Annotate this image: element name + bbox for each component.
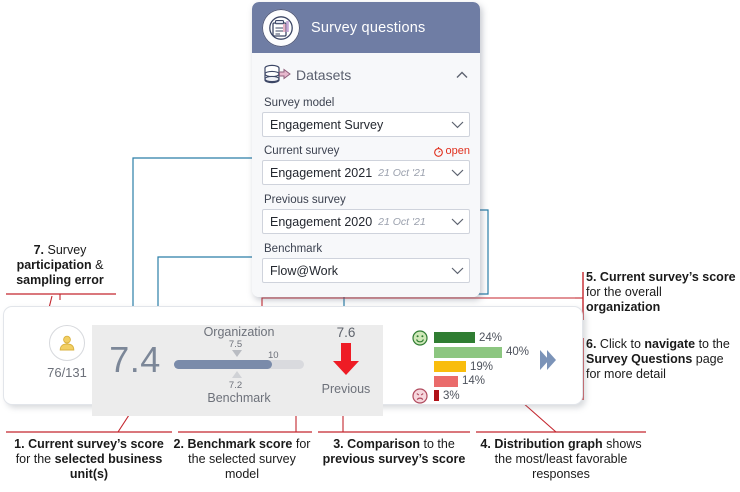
distribution-label-4: 14% (462, 375, 485, 387)
benchmark-slider[interactable]: Organization 7.5 10 7.2 Benchmark (174, 325, 304, 405)
callout-5-text: Current survey’s score for the overall o… (586, 270, 736, 314)
callout-3: 3. Comparison to the previous survey’s s… (314, 437, 474, 467)
benchmark-label: Benchmark (264, 243, 470, 255)
chevron-down-icon[interactable] (451, 120, 464, 129)
callout-2-text: Benchmark score for the selected survey … (184, 437, 310, 481)
chevron-down-icon[interactable] (451, 266, 464, 275)
wire-current-survey (133, 158, 252, 328)
survey-model-value: Engagement Survey (270, 118, 383, 132)
callout-7-text: Survey participation & sampling error (16, 243, 104, 287)
status-badge: open (433, 145, 470, 157)
survey-clipboard-icon (262, 9, 300, 47)
organization-marker-row: 10 (174, 350, 304, 360)
benchmark-select[interactable]: Flow@Work (262, 258, 470, 283)
benchmark-marker (232, 371, 242, 378)
callout-7-number: 7. (34, 243, 44, 257)
panel-body: Datasets Survey model Engagement Survey … (252, 53, 480, 297)
distribution-row: 3% (412, 389, 522, 402)
participation-block: 76/131 (30, 325, 104, 380)
callout-3-number: 3. (333, 437, 343, 451)
distribution-row: 40% (412, 346, 522, 359)
callout-4-text: Distribution graph shows the most/least … (491, 437, 642, 481)
organization-label: Organization (174, 325, 304, 339)
screenshot-root: Survey questions Datasets (0, 0, 740, 492)
previous-comparison-block: 7.6 Previous (309, 325, 383, 396)
previous-survey-select[interactable]: Engagement 2020 21 Oct '21 (262, 209, 470, 234)
callout-4: 4. Distribution graph shows the most/lea… (476, 437, 646, 483)
distribution-bar-3 (434, 361, 466, 372)
arrow-down-icon (331, 342, 361, 376)
callout-6-text: Click to navigate to the Survey Question… (586, 337, 730, 381)
callout-7: 7. Survey participation & sampling error (4, 243, 116, 289)
distribution-label-5: 3% (443, 390, 460, 402)
panel-header: Survey questions (252, 2, 480, 53)
distribution-label-3: 19% (470, 361, 493, 373)
open-badge-label: open (446, 145, 470, 157)
slider-fill (174, 360, 272, 369)
datasets-label: Datasets (296, 67, 454, 83)
callout-3-text: Comparison to the previous survey’s scor… (323, 437, 466, 466)
chevron-up-icon[interactable] (454, 67, 470, 83)
callout-1-text: Current survey’s score for the selected … (16, 437, 164, 481)
current-survey-date: 21 Oct '21 (378, 167, 426, 179)
callout-2: 2. Benchmark score for the selected surv… (172, 437, 312, 483)
distribution-bar-1 (434, 332, 475, 343)
smiley-sad-icon (412, 388, 428, 404)
smiley-happy-icon (412, 330, 428, 346)
participation-value: 76/131 (30, 365, 104, 380)
callout-5: 5. Current survey’s score for the overal… (586, 270, 738, 316)
current-score-value: 7.4 (100, 339, 170, 381)
callout-1: 1. Current survey’s score for the select… (6, 437, 172, 483)
benchmark-value: Flow@Work (270, 264, 338, 278)
previous-survey-value: Engagement 2020 (270, 215, 372, 229)
survey-model-select[interactable]: Engagement Survey (262, 112, 470, 137)
callout-4-number: 4. (480, 437, 490, 451)
previous-label: Previous (309, 382, 383, 396)
survey-model-label: Survey model (264, 97, 470, 109)
organization-marker (232, 350, 242, 357)
benchmark-slider-label: Benchmark (174, 391, 304, 405)
survey-questions-panel: Survey questions Datasets (252, 2, 480, 297)
callout-1-number: 1. (14, 437, 24, 451)
previous-survey-date: 21 Oct '21 (378, 216, 426, 228)
current-survey-label-row: Current survey open (264, 145, 470, 157)
database-icon (262, 63, 292, 87)
distribution-row: 24% (412, 331, 522, 344)
kpi-widget[interactable]: 76/131 7.4 Organization 7.5 10 7.2 Bench… (3, 306, 583, 405)
double-chevron-right-icon[interactable] (535, 347, 561, 373)
current-survey-value: Engagement 2021 (270, 166, 372, 180)
distribution-row: 14% (412, 375, 522, 388)
chevron-down-icon[interactable] (451, 217, 464, 226)
datasets-section-header[interactable]: Datasets (262, 62, 470, 88)
distribution-bar-4 (434, 376, 458, 387)
distribution-label-1: 24% (479, 332, 502, 344)
distribution-bar-5 (434, 390, 439, 401)
callout-5-number: 5. (586, 270, 596, 284)
panel-title: Survey questions (311, 20, 425, 36)
distribution-bar-2 (434, 347, 502, 358)
slider-track[interactable] (174, 360, 304, 369)
stopwatch-icon (433, 146, 444, 157)
previous-score-value: 7.6 (309, 325, 383, 340)
current-survey-label: Current survey (264, 145, 339, 157)
callout-2-number: 2. (174, 437, 184, 451)
benchmark-slider-value: 7.2 (167, 380, 304, 391)
callout-6-number: 6. (586, 337, 596, 351)
distribution-row: 19% (412, 360, 522, 373)
user-avatar-icon (49, 325, 85, 361)
distribution-label-2: 40% (506, 346, 529, 358)
callout-6: 6. Click to navigate to the Survey Quest… (586, 337, 738, 383)
benchmark-marker-row (174, 369, 304, 380)
current-survey-select[interactable]: Engagement 2021 21 Oct '21 (262, 160, 470, 185)
chevron-down-icon[interactable] (451, 168, 464, 177)
distribution-graph: 24% 40% 19% 14% (412, 331, 522, 404)
previous-survey-label: Previous survey (264, 194, 470, 206)
organization-value: 7.5 (167, 339, 304, 350)
